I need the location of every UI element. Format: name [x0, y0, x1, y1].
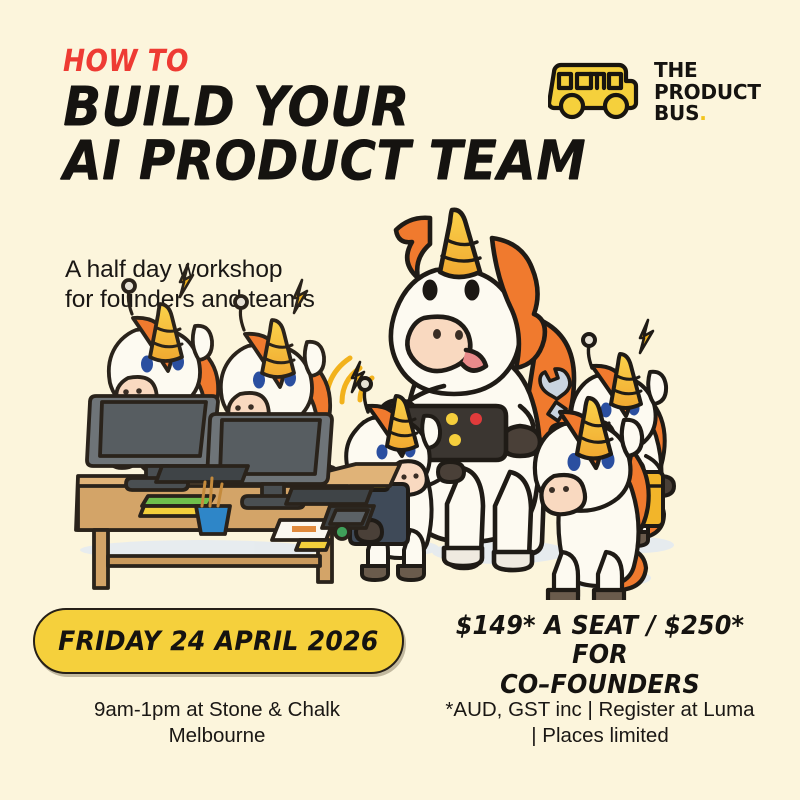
price-line-1: $149* A SEAT / $250* FOR [434, 612, 765, 671]
brand-line-1: THE [654, 60, 761, 81]
poster-canvas: HOW TO BUILD YOUR AI PRODUCT TEAM A half… [0, 0, 800, 800]
unicorn-standing-front [535, 398, 649, 600]
brand-wordmark: THE PRODUCT BUS. [654, 60, 761, 124]
venue-line-2: Melbourne [28, 723, 406, 749]
brand-line-2: PRODUCT [654, 82, 761, 103]
brand-line-3: BUS. [654, 103, 761, 124]
title-line-2: AI PRODUCT TEAM [63, 135, 586, 187]
price-block: $149* A SEAT / $250* FOR CO–FOUNDERS [420, 612, 780, 700]
venue-block: 9am-1pm at Stone & Chalk Melbourne [28, 697, 406, 748]
terms-line-1: *AUD, GST inc | Register at Luma [414, 697, 786, 723]
date-badge[interactable]: FRIDAY 24 APRIL 2026 [33, 608, 404, 674]
school-bus-icon [548, 56, 640, 129]
terms-line-2: | Places limited [414, 723, 786, 749]
brand-dot: . [699, 101, 706, 125]
date-label: FRIDAY 24 APRIL 2026 [58, 626, 379, 657]
venue-line-1: 9am-1pm at Stone & Chalk [28, 697, 406, 723]
terms-block: *AUD, GST inc | Register at Luma | Place… [414, 697, 786, 748]
unicorn-team-illustration [0, 200, 800, 600]
brand-logo: THE PRODUCT BUS. [548, 56, 761, 129]
headline-block: HOW TO BUILD YOUR AI PRODUCT TEAM [63, 47, 631, 187]
price-line-2: CO–FOUNDERS [434, 671, 765, 700]
kicker-how-to: HOW TO [63, 47, 563, 77]
title-line-1: BUILD YOUR [63, 81, 586, 133]
